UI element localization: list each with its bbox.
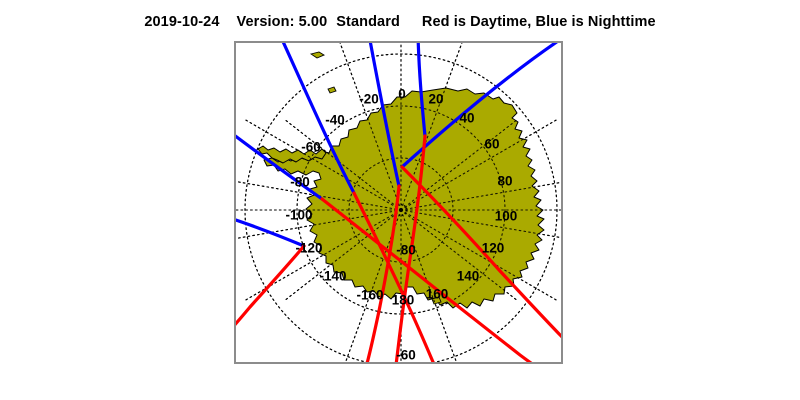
antarctica-polar-map <box>236 43 561 362</box>
title-legend-text: Red is Daytime, Blue is Nighttime <box>422 14 656 30</box>
map-plot-frame: -20 0 20 40 60 80 100 120 140 160 180 -1… <box>234 41 563 364</box>
night-track-6 <box>236 218 304 246</box>
chart-title: 2019-10-24Version: 5.00StandardRed is Da… <box>0 14 800 30</box>
title-date: 2019-10-24 <box>144 14 219 30</box>
title-version: Version: 5.00 <box>237 14 328 30</box>
island-1 <box>311 52 324 58</box>
screenshot-root: 2019-10-24Version: 5.00StandardRed is Da… <box>0 0 800 400</box>
island-2 <box>328 87 336 93</box>
day-track-6 <box>236 246 304 334</box>
title-mode: Standard <box>336 14 400 30</box>
map-canvas <box>236 43 561 362</box>
